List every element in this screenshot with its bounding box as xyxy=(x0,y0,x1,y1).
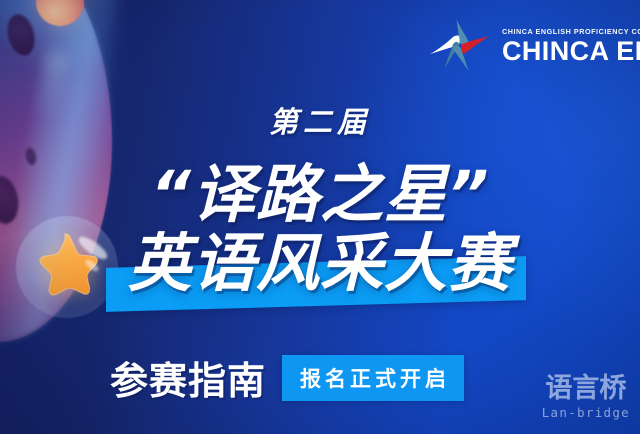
registration-badge: 报名正式开启 xyxy=(282,355,464,401)
chinca-epc-logo: CHINCA ENGLISH PROFICIENCY CONTEST CHINC… xyxy=(424,16,640,74)
chinca-star-logo-icon xyxy=(424,16,496,74)
guide-label: 参赛指南 xyxy=(110,350,266,405)
promo-banner: CHINCA ENGLISH PROFICIENCY CONTEST CHINC… xyxy=(0,0,640,434)
logo-wordmark: CHINCA EPC xyxy=(502,38,640,65)
bottom-caption-row: 参赛指南 报名正式开启 xyxy=(110,350,464,405)
title-line-2: 英语风采大赛 xyxy=(0,213,640,304)
edition-label: 第二届 xyxy=(0,99,640,141)
logo-tagline: CHINCA ENGLISH PROFICIENCY CONTEST xyxy=(502,28,640,35)
